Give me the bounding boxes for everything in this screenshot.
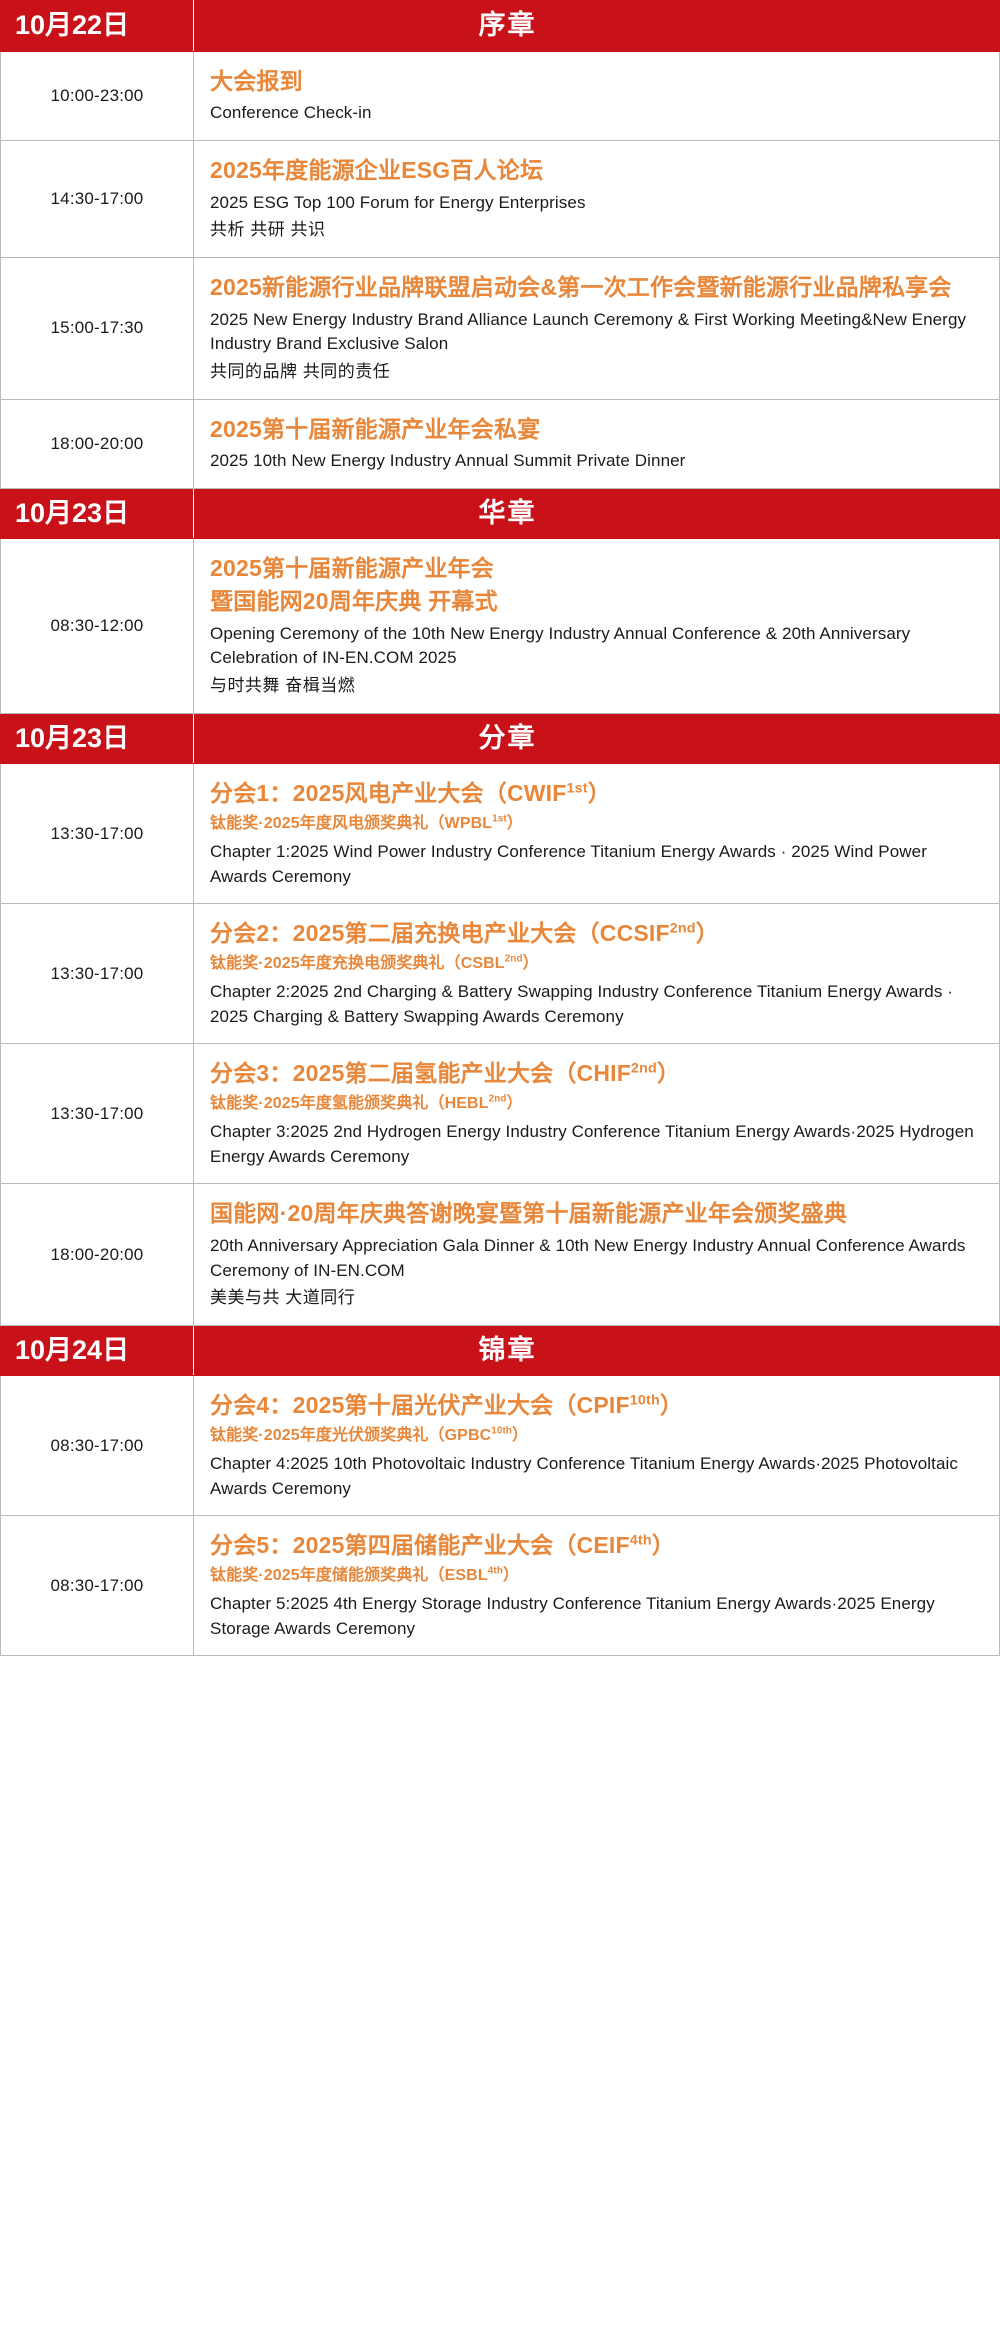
session-title-en: Chapter 2:2025 2nd Charging & Battery Sw… xyxy=(210,980,983,1029)
session-time-cell: 18:00-20:00 xyxy=(1,1184,194,1326)
agenda-row: 10:00-23:00大会报到Conference Check-in xyxy=(1,51,1000,140)
ordinal-superscript: 2nd xyxy=(631,1061,657,1077)
agenda-row: 15:00-17:302025新能源行业品牌联盟启动会&第一次工作会暨新能源行业… xyxy=(1,257,1000,399)
session-slogan-cn: 共同的品牌 共同的责任 xyxy=(210,360,983,385)
session-detail-cell: 2025第十届新能源产业年会暨国能网20周年庆典 开幕式Opening Cere… xyxy=(194,539,1000,713)
session-time-cell: 15:00-17:30 xyxy=(1,257,194,399)
session-time-cell: 14:30-17:00 xyxy=(1,140,194,257)
band-date-label: 10月23日 xyxy=(15,498,129,528)
ordinal-superscript: 10th xyxy=(491,1426,512,1437)
session-title-en: 20th Anniversary Appreciation Gala Dinne… xyxy=(210,1234,983,1283)
band-date-label: 10月24日 xyxy=(15,1335,129,1365)
day-band-row: 10月22日序章 xyxy=(1,1,1000,52)
session-title-en: Chapter 1:2025 Wind Power Industry Confe… xyxy=(210,840,983,889)
session-time-cell: 13:30-17:00 xyxy=(1,764,194,904)
day-band-row: 10月23日分章 xyxy=(1,713,1000,764)
session-title-en: 2025 10th New Energy Industry Annual Sum… xyxy=(210,449,983,474)
session-award-cn: 钛能奖·2025年度储能颁奖典礼（ESBL4th） xyxy=(210,1564,983,1588)
band-date-label: 10月23日 xyxy=(15,723,129,753)
session-detail-cell: 国能网·20周年庆典答谢晚宴暨第十届新能源产业年会颁奖盛典20th Annive… xyxy=(194,1184,1000,1326)
session-detail-cell: 分会4：2025第十届光伏产业大会（CPIF10th）钛能奖·2025年度光伏颁… xyxy=(194,1376,1000,1516)
band-chapter-cell: 锦章 xyxy=(194,1325,1000,1376)
band-chapter-cell: 序章 xyxy=(194,1,1000,52)
session-award-cn: 钛能奖·2025年度光伏颁奖典礼（GPBC10th） xyxy=(210,1424,983,1448)
day-band-row: 10月24日锦章 xyxy=(1,1325,1000,1376)
session-time-cell: 18:00-20:00 xyxy=(1,399,194,488)
session-time-cell: 13:30-17:00 xyxy=(1,904,194,1044)
session-title-en: Chapter 4:2025 10th Photovoltaic Industr… xyxy=(210,1452,983,1501)
session-detail-cell: 大会报到Conference Check-in xyxy=(194,51,1000,140)
agenda-row: 14:30-17:002025年度能源企业ESG百人论坛2025 ESG Top… xyxy=(1,140,1000,257)
agenda-row: 13:30-17:00分会2：2025第二届充换电产业大会（CCSIF2nd）钛… xyxy=(1,904,1000,1044)
session-title-cn: 2025年度能源企业ESG百人论坛 xyxy=(210,154,983,187)
band-chapter-label: 锦章 xyxy=(479,1336,537,1366)
band-date-cell: 10月22日 xyxy=(1,1,194,52)
session-title-en: Chapter 5:2025 4th Energy Storage Indust… xyxy=(210,1592,983,1641)
agenda-table-body: 10月22日序章10:00-23:00大会报到Conference Check-… xyxy=(1,1,1000,1656)
session-time-cell: 13:30-17:00 xyxy=(1,1044,194,1184)
band-chapter-cell: 分章 xyxy=(194,713,1000,764)
ordinal-superscript: 4th xyxy=(488,1566,503,1577)
day-band-row: 10月23日华章 xyxy=(1,488,1000,539)
band-chapter-label: 分章 xyxy=(479,724,537,754)
session-time-cell: 08:30-12:00 xyxy=(1,539,194,713)
band-date-label: 10月22日 xyxy=(15,10,129,40)
session-award-cn: 钛能奖·2025年度氢能颁奖典礼（HEBL2nd） xyxy=(210,1092,983,1116)
ordinal-superscript: 2nd xyxy=(489,1094,507,1105)
session-detail-cell: 2025年度能源企业ESG百人论坛2025 ESG Top 100 Forum … xyxy=(194,140,1000,257)
session-slogan-cn: 美美与共 大道同行 xyxy=(210,1286,983,1311)
session-title-en: Chapter 3:2025 2nd Hydrogen Energy Indus… xyxy=(210,1120,983,1169)
session-time-cell: 10:00-23:00 xyxy=(1,51,194,140)
agenda-row: 18:00-20:00国能网·20周年庆典答谢晚宴暨第十届新能源产业年会颁奖盛典… xyxy=(1,1184,1000,1326)
ordinal-superscript: 2nd xyxy=(505,954,523,965)
agenda-row: 13:30-17:00分会1：2025风电产业大会（CWIF1st）钛能奖·20… xyxy=(1,764,1000,904)
session-award-cn: 钛能奖·2025年度风电颁奖典礼（WPBL1st） xyxy=(210,812,983,836)
ordinal-superscript: 4th xyxy=(630,1533,652,1549)
session-detail-cell: 2025新能源行业品牌联盟启动会&第一次工作会暨新能源行业品牌私享会2025 N… xyxy=(194,257,1000,399)
ordinal-superscript: 10th xyxy=(630,1393,660,1409)
ordinal-superscript: 1st xyxy=(567,781,588,797)
band-chapter-cell: 华章 xyxy=(194,488,1000,539)
session-title-cn: 分会1：2025风电产业大会（CWIF1st） xyxy=(210,777,983,810)
session-detail-cell: 分会5：2025第四届储能产业大会（CEIF4th）钛能奖·2025年度储能颁奖… xyxy=(194,1516,1000,1656)
session-title-en: Conference Check-in xyxy=(210,101,983,126)
session-title-en: 2025 New Energy Industry Brand Alliance … xyxy=(210,308,983,357)
session-award-cn: 钛能奖·2025年度充换电颁奖典礼（CSBL2nd） xyxy=(210,952,983,976)
session-detail-cell: 分会1：2025风电产业大会（CWIF1st）钛能奖·2025年度风电颁奖典礼（… xyxy=(194,764,1000,904)
session-detail-cell: 分会2：2025第二届充换电产业大会（CCSIF2nd）钛能奖·2025年度充换… xyxy=(194,904,1000,1044)
ordinal-superscript: 1st xyxy=(492,814,507,825)
agenda-row: 18:00-20:002025第十届新能源产业年会私宴2025 10th New… xyxy=(1,399,1000,488)
agenda-row: 08:30-17:00分会5：2025第四届储能产业大会（CEIF4th）钛能奖… xyxy=(1,1516,1000,1656)
session-detail-cell: 2025第十届新能源产业年会私宴2025 10th New Energy Ind… xyxy=(194,399,1000,488)
band-date-cell: 10月24日 xyxy=(1,1325,194,1376)
band-chapter-label: 华章 xyxy=(479,499,537,529)
agenda-row: 08:30-17:00分会4：2025第十届光伏产业大会（CPIF10th）钛能… xyxy=(1,1376,1000,1516)
ordinal-superscript: 2nd xyxy=(670,921,696,937)
session-title-en: Opening Ceremony of the 10th New Energy … xyxy=(210,622,983,671)
session-title-cn: 大会报到 xyxy=(210,65,983,98)
session-time-cell: 08:30-17:00 xyxy=(1,1516,194,1656)
session-title-cn: 2025第十届新能源产业年会暨国能网20周年庆典 开幕式 xyxy=(210,552,983,617)
session-title-cn: 2025第十届新能源产业年会私宴 xyxy=(210,413,983,446)
session-detail-cell: 分会3：2025第二届氢能产业大会（CHIF2nd）钛能奖·2025年度氢能颁奖… xyxy=(194,1044,1000,1184)
session-title-cn: 分会2：2025第二届充换电产业大会（CCSIF2nd） xyxy=(210,917,983,950)
agenda-row: 08:30-12:002025第十届新能源产业年会暨国能网20周年庆典 开幕式O… xyxy=(1,539,1000,713)
session-title-en: 2025 ESG Top 100 Forum for Energy Enterp… xyxy=(210,191,983,216)
band-chapter-label: 序章 xyxy=(479,11,537,41)
session-title-cn: 分会5：2025第四届储能产业大会（CEIF4th） xyxy=(210,1529,983,1562)
agenda-row: 13:30-17:00分会3：2025第二届氢能产业大会（CHIF2nd）钛能奖… xyxy=(1,1044,1000,1184)
session-title-cn: 2025新能源行业品牌联盟启动会&第一次工作会暨新能源行业品牌私享会 xyxy=(210,271,983,304)
conference-agenda-table: 10月22日序章10:00-23:00大会报到Conference Check-… xyxy=(0,0,1000,1656)
session-time-cell: 08:30-17:00 xyxy=(1,1376,194,1516)
session-slogan-cn: 与时共舞 奋楫当燃 xyxy=(210,674,983,699)
session-title-cn: 分会4：2025第十届光伏产业大会（CPIF10th） xyxy=(210,1389,983,1422)
band-date-cell: 10月23日 xyxy=(1,713,194,764)
session-slogan-cn: 共析 共研 共识 xyxy=(210,218,983,243)
band-date-cell: 10月23日 xyxy=(1,488,194,539)
session-title-cn: 国能网·20周年庆典答谢晚宴暨第十届新能源产业年会颁奖盛典 xyxy=(210,1197,983,1230)
session-title-cn: 分会3：2025第二届氢能产业大会（CHIF2nd） xyxy=(210,1057,983,1090)
